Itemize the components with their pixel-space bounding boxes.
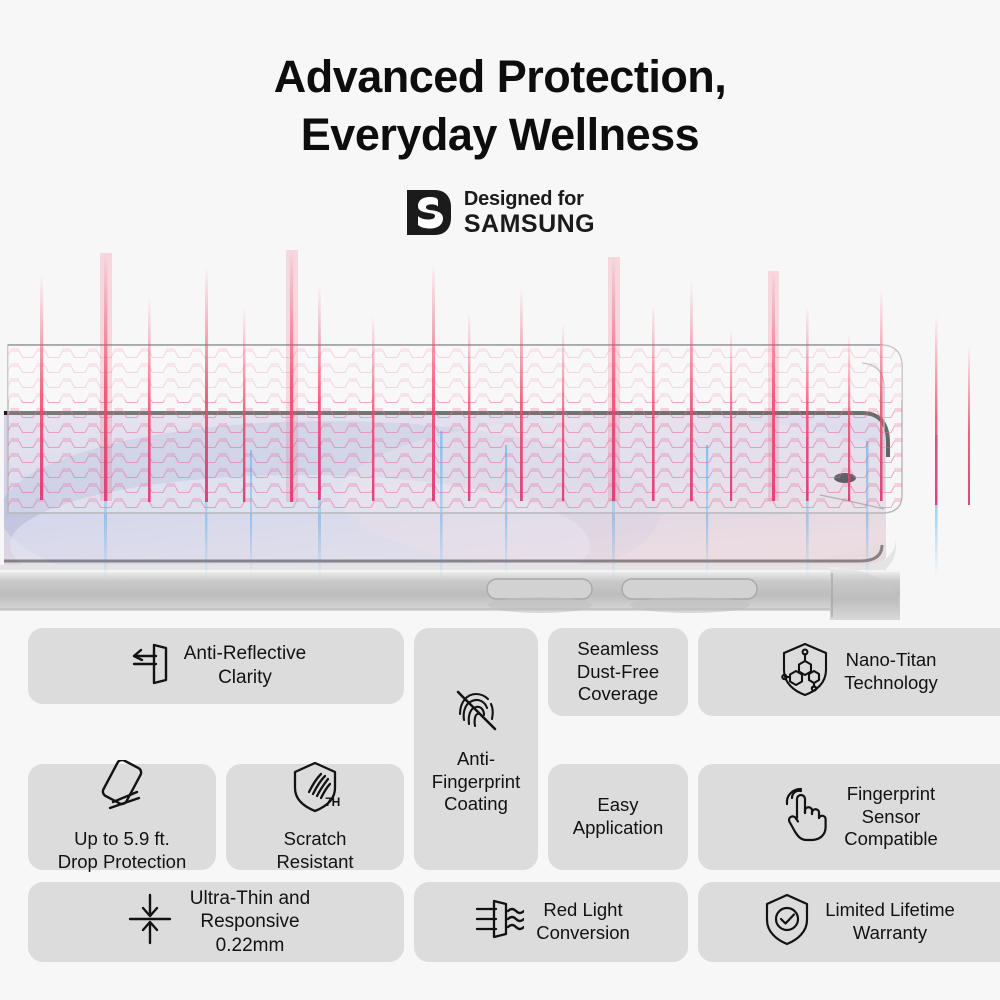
feature-chip-easy-application[interactable]: Easy Application xyxy=(548,764,688,870)
feature-chip-drop-protection[interactable]: Up to 5.9 ft. Drop Protection xyxy=(28,764,216,870)
badge-samsung-label: SAMSUNG xyxy=(464,212,595,237)
feature-label-ultra-thin: Ultra-Thin and Responsive 0.22mm xyxy=(190,887,310,958)
svg-text:7H: 7H xyxy=(325,795,340,809)
feature-chip-red-light-conversion[interactable]: Red Light Conversion xyxy=(414,882,688,962)
reflection-arrow-icon xyxy=(126,639,172,693)
feature-chip-warranty[interactable]: Limited Lifetime Warranty xyxy=(698,882,1000,962)
feature-chip-scratch-resistant[interactable]: 7H Scratch Resistant xyxy=(226,764,404,870)
page-title: Advanced Protection, Everyday Wellness xyxy=(0,48,1000,163)
shield-check-icon xyxy=(761,892,813,952)
badge-text: Designed for SAMSUNG xyxy=(464,189,595,237)
feature-label-easy-application: Easy Application xyxy=(573,794,664,840)
feature-chip-dust-free[interactable]: Seamless Dust-Free Coverage xyxy=(548,628,688,716)
feature-label-red-light-conversion: Red Light Conversion xyxy=(536,899,630,945)
feature-chip-grid: Anti-Reflective Clarity Up to 5.9 ft. Dr… xyxy=(0,628,1000,1000)
feature-label-anti-reflective: Anti-Reflective Clarity xyxy=(184,642,307,689)
feature-label-scratch-resistant: Scratch Resistant xyxy=(276,828,353,874)
shield-molecule-icon xyxy=(778,641,832,703)
light-conversion-icon xyxy=(472,893,524,951)
screen-protector-glass xyxy=(0,345,902,513)
headline-line-1: Advanced Protection, xyxy=(0,48,1000,106)
feature-label-nano-titan: Nano-Titan Technology xyxy=(844,649,938,695)
headline-line-2: Everyday Wellness xyxy=(0,106,1000,164)
designed-for-samsung-badge: Designed for SAMSUNG xyxy=(0,187,1000,238)
badge-designed-for-label: Designed for xyxy=(464,189,595,209)
power-button xyxy=(622,579,757,599)
volume-rocker-button xyxy=(487,579,592,599)
feature-chip-fingerprint-sensor[interactable]: Fingerprint Sensor Compatible xyxy=(698,764,1000,870)
feature-label-fingerprint-sensor: Fingerprint Sensor Compatible xyxy=(844,783,938,852)
header: Advanced Protection, Everyday Wellness D… xyxy=(0,0,1000,238)
feature-chip-anti-reflective[interactable]: Anti-Reflective Clarity xyxy=(28,628,404,704)
feature-label-dust-free: Seamless Dust-Free Coverage xyxy=(577,638,659,707)
falling-phone-icon xyxy=(93,760,151,820)
shield-7h-scratch-icon: 7H xyxy=(287,760,343,820)
feature-label-warranty: Limited Lifetime Warranty xyxy=(825,899,955,945)
feature-chip-nano-titan[interactable]: Nano-Titan Technology xyxy=(698,628,1000,716)
feature-chip-anti-fingerprint[interactable]: Anti- Fingerprint Coating xyxy=(414,628,538,870)
feature-chip-ultra-thin[interactable]: Ultra-Thin and Responsive 0.22mm xyxy=(28,882,404,962)
hero-product-image xyxy=(0,245,1000,620)
feature-label-anti-fingerprint: Anti- Fingerprint Coating xyxy=(432,748,520,817)
honeycomb-nano-mesh xyxy=(0,345,902,513)
feature-label-drop-protection: Up to 5.9 ft. Drop Protection xyxy=(58,828,187,874)
thickness-arrows-icon xyxy=(122,891,178,953)
fingerprint-slash-icon xyxy=(450,682,502,740)
samsung-s-shield-logo-icon xyxy=(405,187,453,238)
tapping-hand-icon xyxy=(778,786,832,848)
